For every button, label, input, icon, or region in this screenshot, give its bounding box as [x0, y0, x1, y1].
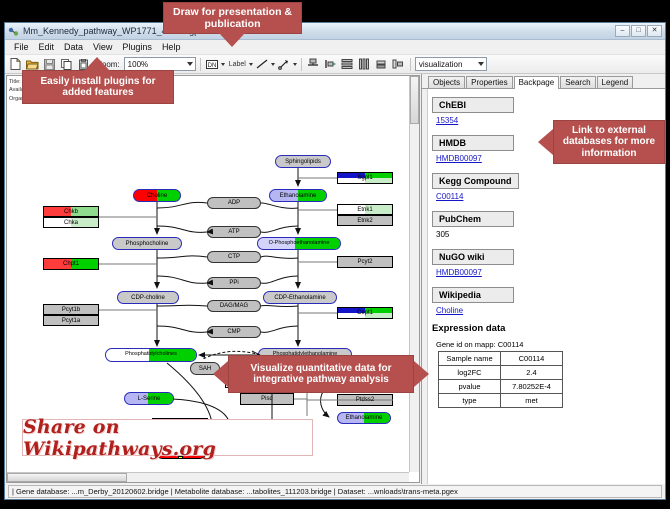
table-row: pvalue 7.80252E-4: [439, 380, 563, 394]
zoom-value: 100%: [128, 60, 148, 69]
title-bar: Mm_Kennedy_pathway_WP1771_45176.gpml – □…: [5, 23, 665, 40]
window-controls: – □ ✕: [615, 25, 662, 37]
node-label: Etnk2: [357, 218, 372, 224]
share-text: Share on Wikipathways.org: [23, 416, 312, 460]
expression-table: Sample name C00114 log2FC 2.4 pvalue 7.8…: [438, 351, 563, 408]
svg-text:DN: DN: [208, 63, 217, 69]
node-label: Ethanolamine: [280, 193, 317, 199]
db-heading-chebi: ChEBI: [432, 97, 514, 113]
callout-text: Easily install plugins for added feature…: [29, 76, 167, 99]
panel-rail: [422, 89, 428, 484]
callout-visualize-arrow-icon: [213, 361, 228, 387]
datanode-tool-group[interactable]: DN: [205, 57, 225, 72]
chevron-down-icon: [187, 62, 193, 66]
node-label: CDP-choline: [131, 295, 165, 301]
node-label: Sphingolipids: [285, 159, 321, 165]
toolbar-separator: [200, 58, 201, 71]
visualization-combobox[interactable]: visualization: [415, 57, 487, 71]
db-value-pubchem: 305: [436, 230, 657, 239]
db-link-wikipedia[interactable]: Choline: [436, 306, 657, 315]
chevron-down-icon[interactable]: [293, 63, 297, 66]
node-label: Pisd: [261, 396, 273, 402]
align-top-icon[interactable]: [306, 57, 321, 72]
menu-plugins[interactable]: Plugins: [117, 41, 157, 53]
db-section-wikipedia: Wikipedia Choline: [432, 285, 657, 315]
db-heading-kegg: Kegg Compound: [432, 173, 519, 189]
menu-file[interactable]: File: [9, 41, 34, 53]
toolbar-separator: [410, 58, 411, 71]
visualization-value: visualization: [419, 60, 463, 69]
node-label: Cept1: [357, 310, 373, 316]
node-label: Etnk1: [357, 207, 372, 213]
tab-properties[interactable]: Properties: [466, 76, 512, 88]
new-file-button[interactable]: [8, 57, 23, 72]
node-label: PPi: [229, 280, 238, 286]
node-label: Pcyt2: [357, 259, 372, 265]
db-section-kegg: Kegg Compound C00114: [432, 171, 657, 201]
toolbar-separator: [301, 58, 302, 71]
distribute-vertical-icon[interactable]: [340, 57, 355, 72]
datanode-icon[interactable]: DN: [205, 57, 220, 72]
callout-plugins: Easily install plugins for added feature…: [22, 70, 174, 104]
row-value: C00114: [501, 352, 563, 366]
node-label: Phosphatidylcholines: [125, 352, 177, 358]
menu-view[interactable]: View: [88, 41, 117, 53]
node-label: Choline: [147, 193, 167, 199]
align-left-icon[interactable]: [323, 57, 338, 72]
interaction-icon[interactable]: [277, 57, 292, 72]
node-label: Phosphocholine: [126, 241, 169, 247]
node-label: ATP: [228, 229, 239, 235]
node-label: Sgpl1: [357, 175, 372, 181]
db-heading-nugo: NuGO wiki: [432, 249, 514, 265]
node-label: Pcyt1a: [62, 318, 80, 324]
callout-text: Link to external databases for more info…: [560, 125, 658, 160]
node-label: DAG/MAG: [220, 303, 248, 309]
callout-links: Link to external databases for more info…: [553, 120, 665, 164]
tab-backpage[interactable]: Backpage: [514, 76, 560, 89]
menu-data[interactable]: Data: [59, 41, 88, 53]
stack-icon[interactable]: [374, 57, 389, 72]
node-label: Ethanolamine: [346, 415, 383, 421]
node-label: CMP: [227, 329, 240, 335]
tab-objects[interactable]: Objects: [428, 76, 465, 88]
node-label: O-Phosphoethanolamine: [269, 241, 330, 247]
menu-edit[interactable]: Edit: [34, 41, 60, 53]
callout-links-arrow-icon: [538, 129, 553, 155]
status-text: | Gene database: ...m_Derby_20120602.bri…: [8, 485, 662, 498]
gene-id-line: Gene id on mapp: C00114: [436, 340, 657, 349]
db-heading-hmdb: HMDB: [432, 135, 514, 151]
node-label: Ptdss2: [356, 397, 374, 403]
callout-visualize: Visualize quantitative data for integrat…: [228, 355, 414, 393]
distribute-horizontal-icon[interactable]: [357, 57, 372, 72]
line-tool-group[interactable]: [255, 57, 275, 72]
db-heading-wikipedia: Wikipedia: [432, 287, 514, 303]
row-key: type: [439, 394, 501, 408]
node-label: CTP: [228, 254, 240, 260]
callout-visualize-arrow-right-icon: [414, 361, 429, 387]
row-key: pvalue: [439, 380, 501, 394]
row-value: 2.4: [501, 366, 563, 380]
db-section-pubchem: PubChem 305: [432, 209, 657, 239]
maximize-button[interactable]: □: [631, 25, 646, 37]
chevron-down-icon[interactable]: [249, 63, 253, 66]
db-heading-pubchem: PubChem: [432, 211, 514, 227]
table-row: Sample name C00114: [439, 352, 563, 366]
row-value: met: [501, 394, 563, 408]
zoom-combobox[interactable]: 100%: [124, 57, 196, 71]
db-link-nugo[interactable]: HMDB00097: [436, 268, 657, 277]
interaction-tool-group[interactable]: [277, 57, 297, 72]
minimize-button[interactable]: –: [615, 25, 630, 37]
node-label: Chka: [64, 220, 78, 226]
node-label: SAH: [199, 366, 211, 372]
callout-draw: Draw for presentation & publication: [163, 2, 302, 34]
node-label: Chkb: [64, 209, 78, 215]
node-label: ADP: [228, 200, 240, 206]
label-tool-text[interactable]: Label: [227, 61, 248, 68]
table-row: type met: [439, 394, 563, 408]
tab-search[interactable]: Search: [560, 76, 595, 88]
callout-draw-arrow-icon: [219, 33, 245, 47]
line-icon[interactable]: [255, 57, 270, 72]
label-tool-group[interactable]: Label: [227, 61, 253, 68]
callout-plugins-arrow-icon: [84, 57, 110, 71]
row-key: Sample name: [439, 352, 501, 366]
tab-legend[interactable]: Legend: [597, 76, 634, 88]
chevron-down-icon: [478, 62, 484, 66]
db-section-nugo: NuGO wiki HMDB00097: [432, 247, 657, 277]
node-label: Chpt1: [63, 261, 79, 267]
node-label: L-Serine: [138, 396, 161, 402]
callout-share: Share on Wikipathways.org: [22, 419, 313, 456]
expression-data-title: Expression data: [432, 323, 657, 334]
node-label: Pcyt1b: [62, 307, 80, 313]
side-panel-tabs: Objects Properties Backpage Search Legen…: [422, 74, 665, 89]
menu-help[interactable]: Help: [157, 41, 186, 53]
callout-text: Visualize quantitative data for integrat…: [235, 363, 407, 386]
node-label: CDP-Ethanolamine: [274, 295, 325, 301]
pathvisio-icon: [8, 26, 19, 37]
chevron-down-icon[interactable]: [221, 63, 225, 66]
close-button[interactable]: ✕: [647, 25, 662, 37]
status-bar: | Gene database: ...m_Derby_20120602.bri…: [5, 484, 665, 499]
db-link-kegg[interactable]: C00114: [436, 192, 657, 201]
menu-bar: File Edit Data View Plugins Help: [5, 40, 665, 55]
callout-text: Draw for presentation & publication: [170, 6, 295, 30]
row-value: 7.80252E-4: [501, 380, 563, 394]
row-key: log2FC: [439, 366, 501, 380]
chevron-down-icon[interactable]: [271, 63, 275, 66]
table-row: log2FC 2.4: [439, 366, 563, 380]
group-icon[interactable]: [391, 57, 406, 72]
